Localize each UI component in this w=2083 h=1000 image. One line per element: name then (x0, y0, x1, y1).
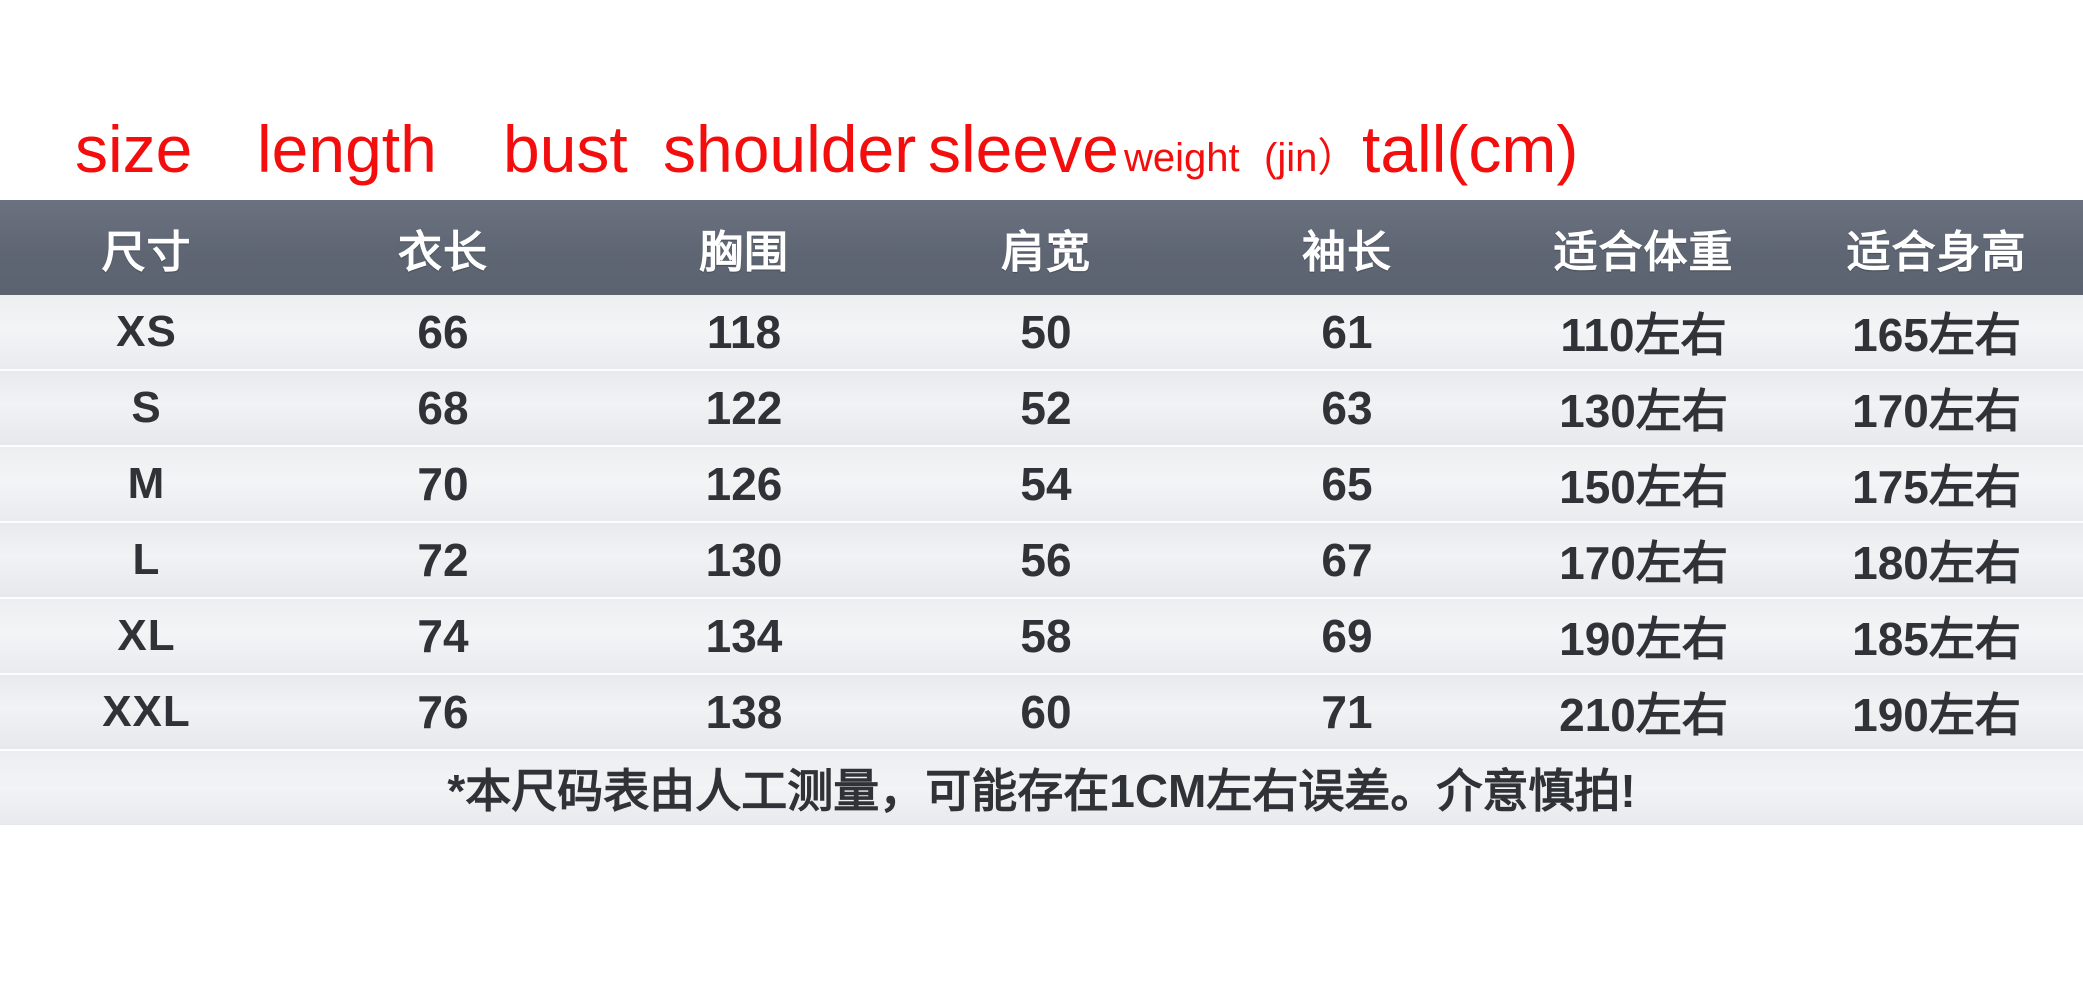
cell-bust: 122 (593, 370, 895, 446)
english-annotation-strip: sizelengthbustshouldersleeveweight(jin）t… (0, 0, 2083, 200)
cell-bust: 130 (593, 522, 895, 598)
size-chart-image: sizelengthbustshouldersleeveweight(jin）t… (0, 0, 2083, 1000)
cell-sleeve: 65 (1197, 446, 1497, 522)
cell-sleeve: 69 (1197, 598, 1497, 674)
annotation-label: size (75, 116, 192, 182)
cell-height: 180左右 (1790, 522, 2083, 598)
cell-size: XS (0, 295, 293, 370)
cell-shoulder: 50 (895, 295, 1197, 370)
header-cell-height: 适合身高 (1790, 200, 2083, 295)
cell-size: XL (0, 598, 293, 674)
annotation-label: tall(cm) (1362, 116, 1578, 182)
cell-sleeve: 67 (1197, 522, 1497, 598)
cell-shoulder: 52 (895, 370, 1197, 446)
table-row: L721305667170左右180左右 (0, 522, 2083, 598)
cell-size: L (0, 522, 293, 598)
table-row: M701265465150左右175左右 (0, 446, 2083, 522)
cell-bust: 138 (593, 674, 895, 750)
cell-length: 70 (293, 446, 593, 522)
cell-weight: 210左右 (1497, 674, 1790, 750)
cell-height: 190左右 (1790, 674, 2083, 750)
table-row: XS661185061110左右165左右 (0, 295, 2083, 370)
table-row: S681225263130左右170左右 (0, 370, 2083, 446)
cell-bust: 118 (593, 295, 895, 370)
cell-sleeve: 71 (1197, 674, 1497, 750)
header-row: 尺寸 衣长 胸围 肩宽 袖长 适合体重 适合身高 (0, 200, 2083, 295)
measurement-note-row: *本尺码表由人工测量，可能存在1CM左右误差。介意慎拍! (0, 750, 2083, 826)
cell-sleeve: 61 (1197, 295, 1497, 370)
cell-shoulder: 58 (895, 598, 1197, 674)
cell-weight: 170左右 (1497, 522, 1790, 598)
table-body: XS661185061110左右165左右S681225263130左右170左… (0, 295, 2083, 826)
cell-bust: 134 (593, 598, 895, 674)
cell-size: S (0, 370, 293, 446)
table-row: XXL761386071210左右190左右 (0, 674, 2083, 750)
annotation-label: bust (503, 116, 628, 182)
size-chart-table: 尺寸 衣长 胸围 肩宽 袖长 适合体重 适合身高 XS661185061110左… (0, 200, 2083, 827)
cell-height: 175左右 (1790, 446, 2083, 522)
cell-shoulder: 54 (895, 446, 1197, 522)
cell-length: 72 (293, 522, 593, 598)
header-cell-sleeve: 袖长 (1197, 200, 1497, 295)
annotation-label: weight (1124, 138, 1240, 178)
annotation-label: (jin） (1264, 138, 1357, 178)
cell-height: 170左右 (1790, 370, 2083, 446)
header-cell-size: 尺寸 (0, 200, 293, 295)
table-header: 尺寸 衣长 胸围 肩宽 袖长 适合体重 适合身高 (0, 200, 2083, 295)
cell-weight: 190左右 (1497, 598, 1790, 674)
header-cell-length: 衣长 (293, 200, 593, 295)
cell-size: XXL (0, 674, 293, 750)
cell-shoulder: 56 (895, 522, 1197, 598)
header-cell-weight: 适合体重 (1497, 200, 1790, 295)
cell-sleeve: 63 (1197, 370, 1497, 446)
header-cell-bust: 胸围 (593, 200, 895, 295)
table-row: XL741345869190左右185左右 (0, 598, 2083, 674)
cell-weight: 130左右 (1497, 370, 1790, 446)
cell-length: 74 (293, 598, 593, 674)
cell-length: 68 (293, 370, 593, 446)
cell-length: 76 (293, 674, 593, 750)
annotation-label: shoulder (663, 116, 916, 182)
header-cell-shoulder: 肩宽 (895, 200, 1197, 295)
cell-length: 66 (293, 295, 593, 370)
cell-height: 165左右 (1790, 295, 2083, 370)
cell-size: M (0, 446, 293, 522)
cell-bust: 126 (593, 446, 895, 522)
cell-height: 185左右 (1790, 598, 2083, 674)
cell-shoulder: 60 (895, 674, 1197, 750)
cell-weight: 150左右 (1497, 446, 1790, 522)
annotation-label: sleeve (928, 116, 1119, 182)
measurement-note: *本尺码表由人工测量，可能存在1CM左右误差。介意慎拍! (0, 750, 2083, 826)
cell-weight: 110左右 (1497, 295, 1790, 370)
annotation-label: length (257, 116, 437, 182)
